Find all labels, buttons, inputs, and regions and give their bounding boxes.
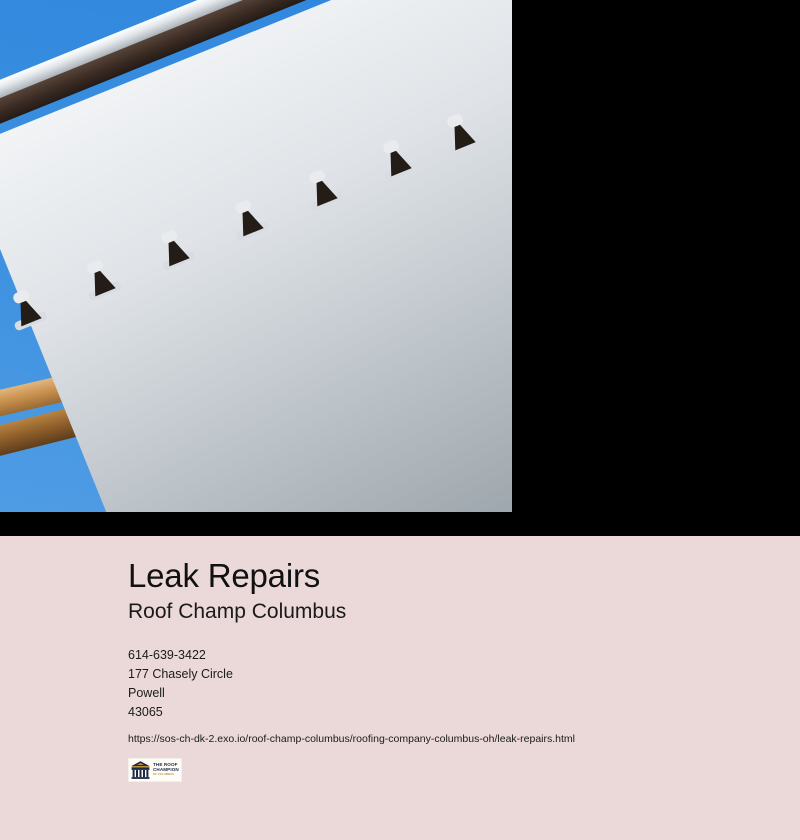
hero-media-band xyxy=(0,0,800,536)
letterbox-bottom xyxy=(0,512,512,536)
city-name: Powell xyxy=(128,684,233,703)
page-title: Leak Repairs xyxy=(128,558,320,594)
letterbox-right xyxy=(512,0,800,536)
page-url: https://sos-ch-dk-2.exo.io/roof-champ-co… xyxy=(128,732,575,746)
street-address: 177 Chasely Circle xyxy=(128,665,233,684)
logo-tagline: OF COLUMBUS xyxy=(153,774,181,777)
contact-details: 614-639-3422 177 Chasely Circle Powell 4… xyxy=(128,646,233,722)
company-logo: THE ROOF CHAMPION OF COLUMBUS xyxy=(128,758,182,782)
roof-photo xyxy=(0,0,512,512)
company-name: Roof Champ Columbus xyxy=(128,600,346,623)
content-panel: Leak Repairs Roof Champ Columbus 614-639… xyxy=(0,536,800,840)
roof-champion-crest-icon xyxy=(130,760,151,780)
logo-wordmark: THE ROOF CHAMPION OF COLUMBUS xyxy=(151,763,181,776)
postal-code: 43065 xyxy=(128,703,233,722)
phone-number: 614-639-3422 xyxy=(128,646,233,665)
